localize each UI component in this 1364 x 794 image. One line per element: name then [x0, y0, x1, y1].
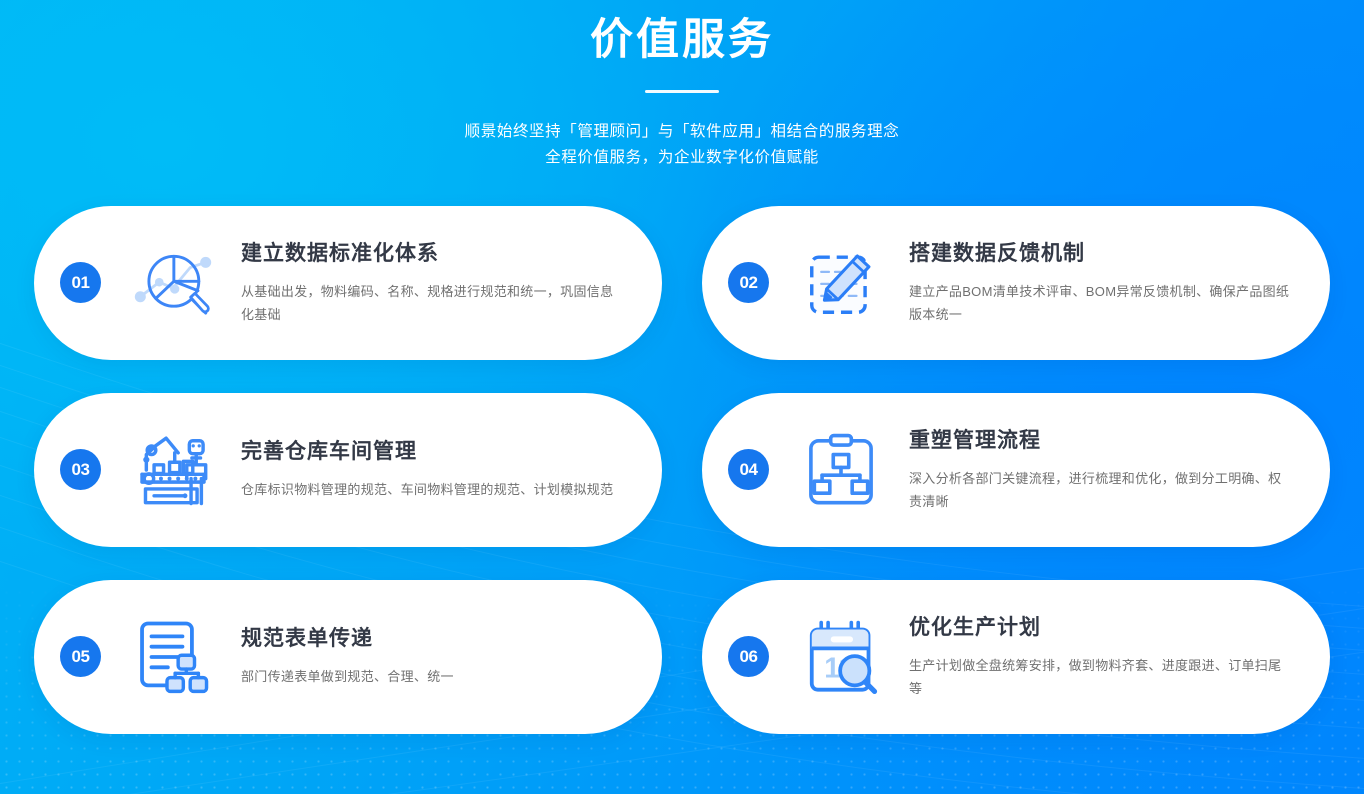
page-title: 价值服务: [0, 14, 1364, 68]
card-number-badge: 03: [60, 449, 101, 490]
card-number-badge: 05: [60, 636, 101, 677]
card-text-block: 建立数据标准化体系 从基础出发，物料编码、名称、规格进行规范和统一，巩固信息化基…: [241, 240, 632, 326]
card-description: 仓库标识物料管理的规范、车间物料管理的规范、计划模拟规范: [241, 478, 626, 501]
card-number-badge: 04: [728, 449, 769, 490]
card-number-badge: 01: [60, 262, 101, 303]
page-header: 价值服务 顺景始终坚持「管理顾问」与「软件应用」相结合的服务理念 全程价值服务，…: [0, 0, 1364, 171]
service-card-05[interactable]: 05 规范表单传递: [34, 580, 662, 734]
card-title: 规范表单传递: [241, 625, 626, 652]
card-description: 生产计划做全盘统筹安排，做到物料齐套、进度跟进、订单扫尾等: [909, 654, 1294, 700]
subtitle-line-2: 全程价值服务，为企业数字化价值赋能: [0, 145, 1364, 171]
card-title: 搭建数据反馈机制: [909, 240, 1294, 267]
card-text-block: 优化生产计划 生产计划做全盘统筹安排，做到物料齐套、进度跟进、订单扫尾等: [909, 614, 1300, 700]
service-card-02[interactable]: 02 搭建数据反馈机制 建立产品BOM清单技术评审、BOM异常反馈机制、确保产品…: [702, 206, 1330, 360]
card-description: 建立产品BOM清单技术评审、BOM异常反馈机制、确保产品图纸版本统一: [909, 280, 1294, 326]
service-card-06[interactable]: 06 11 优化生产计划 生产计划做全盘统筹安排，做到物料齐套、进度跟进、订单扫…: [702, 580, 1330, 734]
service-card-01[interactable]: 01 建立数据标准化体系: [34, 206, 662, 360]
card-description: 深入分析各部门关键流程，进行梳理和优化，做到分工明确、权责清晰: [909, 467, 1294, 513]
document-pencil-edit-icon: [793, 235, 889, 331]
card-title: 重塑管理流程: [909, 427, 1294, 454]
subtitle-line-1: 顺景始终坚持「管理顾问」与「软件应用」相结合的服务理念: [0, 119, 1364, 145]
service-card-03[interactable]: 03: [34, 393, 662, 547]
calendar-magnifier-icon: 11: [793, 609, 889, 705]
card-description: 从基础出发，物料编码、名称、规格进行规范和统一，巩固信息化基础: [241, 280, 626, 326]
card-number-badge: 02: [728, 262, 769, 303]
factory-conveyor-worker-icon: [125, 422, 221, 518]
card-title: 建立数据标准化体系: [241, 240, 626, 267]
card-title: 完善仓库车间管理: [241, 438, 626, 465]
pie-chart-magnifier-icon: [125, 235, 221, 331]
card-text-block: 重塑管理流程 深入分析各部门关键流程，进行梳理和优化，做到分工明确、权责清晰: [909, 427, 1300, 513]
document-flowchart-icon: [125, 609, 221, 705]
card-title: 优化生产计划: [909, 614, 1294, 641]
clipboard-hierarchy-icon: [793, 422, 889, 518]
title-divider: [645, 90, 719, 93]
service-card-04[interactable]: 04 重塑管理流程 深入分析各部门关键流程，进行梳理和优化，做到分工明确、权责清…: [702, 393, 1330, 547]
card-description: 部门传递表单做到规范、合理、统一: [241, 665, 626, 688]
card-text-block: 完善仓库车间管理 仓库标识物料管理的规范、车间物料管理的规范、计划模拟规范: [241, 438, 632, 501]
service-card-grid: 01 建立数据标准化体系: [34, 206, 1330, 734]
card-text-block: 搭建数据反馈机制 建立产品BOM清单技术评审、BOM异常反馈机制、确保产品图纸版…: [909, 240, 1300, 326]
card-number-badge: 06: [728, 636, 769, 677]
card-text-block: 规范表单传递 部门传递表单做到规范、合理、统一: [241, 625, 632, 688]
page-subtitle: 顺景始终坚持「管理顾问」与「软件应用」相结合的服务理念 全程价值服务，为企业数字…: [0, 119, 1364, 171]
